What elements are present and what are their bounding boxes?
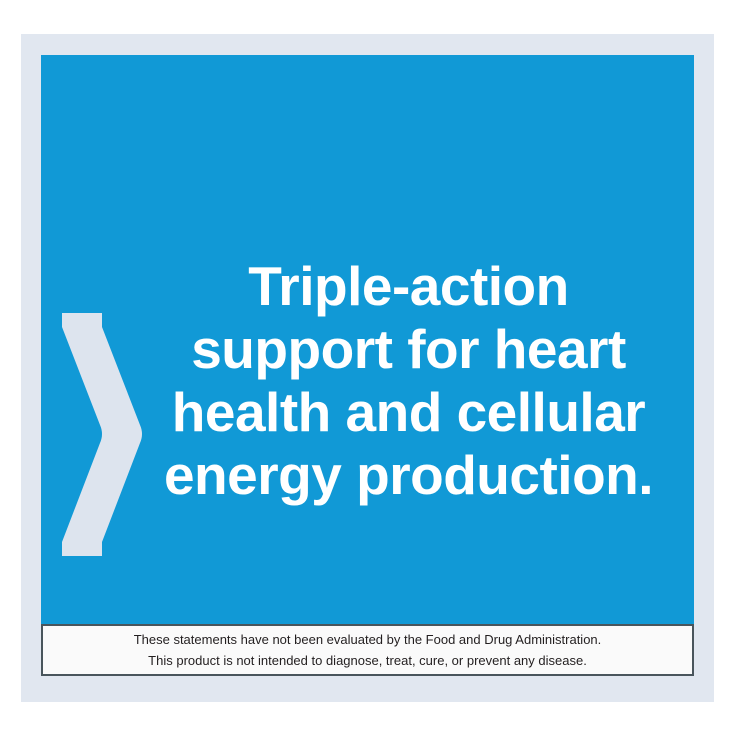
headline-line-1: Triple-action — [82, 255, 694, 318]
hero-panel: Triple-action support for heart health a… — [41, 55, 694, 626]
headline-line-2: support for heart — [82, 318, 694, 381]
page-title: Triple-action support for heart health a… — [82, 255, 694, 507]
product-claim-graphic: Triple-action support for heart health a… — [0, 0, 735, 735]
headline-line-3: health and cellular — [82, 381, 694, 444]
fda-disclaimer-box: These statements have not been evaluated… — [41, 624, 694, 676]
disclaimer-line-1: These statements have not been evaluated… — [134, 629, 602, 650]
disclaimer-line-2: This product is not intended to diagnose… — [148, 650, 587, 671]
headline-line-4: energy production. — [82, 444, 694, 507]
